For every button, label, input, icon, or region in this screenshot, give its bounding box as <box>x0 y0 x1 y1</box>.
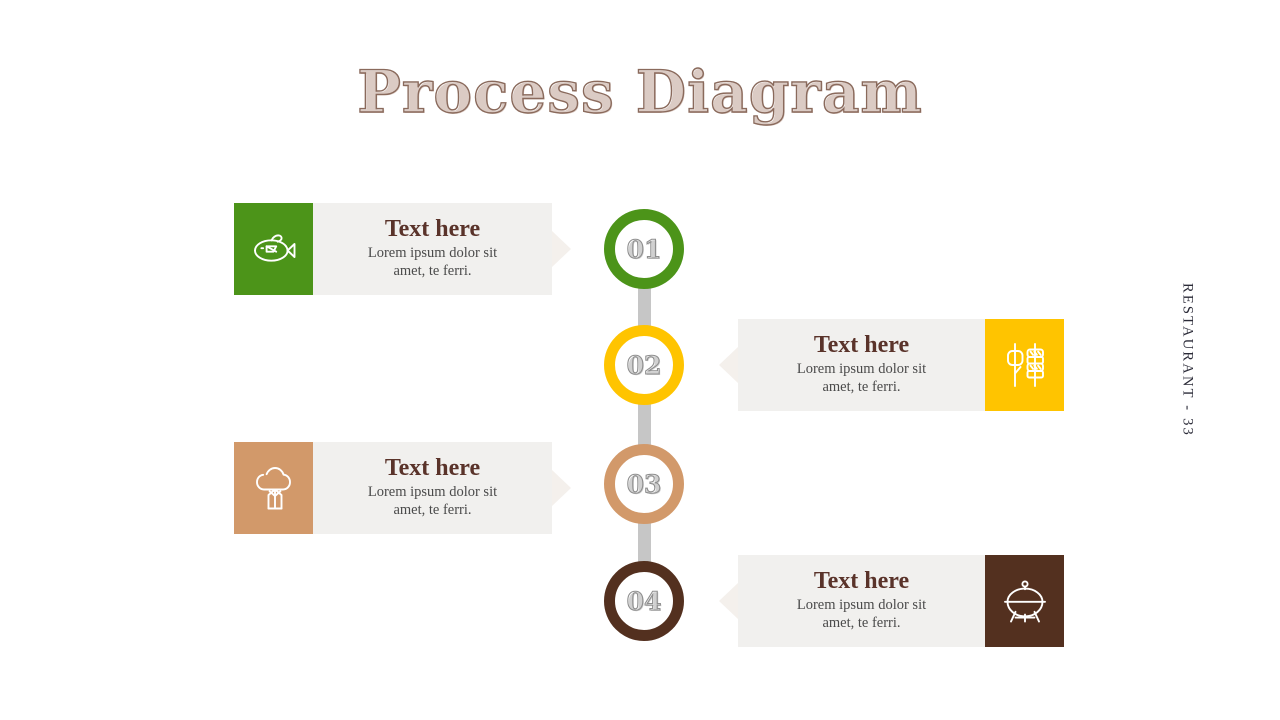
step-text-block-01: Text here Lorem ipsum dolor sit amet, te… <box>313 203 552 295</box>
step-number-01: 01 <box>627 235 662 264</box>
step-text-block-04: Text here Lorem ipsum dolor sit amet, te… <box>738 555 985 647</box>
step-node-04[interactable]: 04 <box>604 561 684 641</box>
step-number-04: 04 <box>627 587 662 616</box>
step-card-01[interactable]: Text here Lorem ipsum dolor sit amet, te… <box>234 203 552 295</box>
step-number-03: 03 <box>627 470 662 499</box>
step-icon-box-03 <box>234 442 313 534</box>
card-notch-01 <box>552 231 571 267</box>
slide-side-label: RESTAURANT - 33 <box>1178 283 1195 437</box>
step-number-02: 02 <box>627 351 662 380</box>
broccoli-icon <box>252 465 296 511</box>
step-body-03: Lorem ipsum dolor sit amet, te ferri. <box>368 484 497 519</box>
card-notch-03 <box>552 470 571 506</box>
step-icon-box-04 <box>985 555 1064 647</box>
step-heading-02: Text here <box>814 333 909 358</box>
step-body-01: Lorem ipsum dolor sit amet, te ferri. <box>368 245 497 280</box>
step-card-02[interactable]: Text here Lorem ipsum dolor sit amet, te… <box>738 319 1064 411</box>
step-body-04: Lorem ipsum dolor sit amet, te ferri. <box>797 597 926 632</box>
step-heading-04: Text here <box>814 569 909 594</box>
step-heading-03: Text here <box>385 456 480 481</box>
timeline-spine <box>638 250 651 602</box>
step-card-03[interactable]: Text here Lorem ipsum dolor sit amet, te… <box>234 442 552 534</box>
page-title: Process Diagram <box>0 62 1280 123</box>
step-icon-box-02 <box>985 319 1064 411</box>
step-node-03[interactable]: 03 <box>604 444 684 524</box>
step-text-block-02: Text here Lorem ipsum dolor sit amet, te… <box>738 319 985 411</box>
card-notch-04 <box>719 583 738 619</box>
step-body-02: Lorem ipsum dolor sit amet, te ferri. <box>797 361 926 396</box>
step-card-04[interactable]: Text here Lorem ipsum dolor sit amet, te… <box>738 555 1064 647</box>
card-notch-02 <box>719 347 738 383</box>
fish-icon <box>251 232 297 266</box>
step-icon-box-01 <box>234 203 313 295</box>
grill-icon <box>1002 578 1048 624</box>
step-text-block-03: Text here Lorem ipsum dolor sit amet, te… <box>313 442 552 534</box>
step-node-01[interactable]: 01 <box>604 209 684 289</box>
step-node-02[interactable]: 02 <box>604 325 684 405</box>
skewer-icon <box>1004 342 1046 388</box>
step-heading-01: Text here <box>385 217 480 242</box>
